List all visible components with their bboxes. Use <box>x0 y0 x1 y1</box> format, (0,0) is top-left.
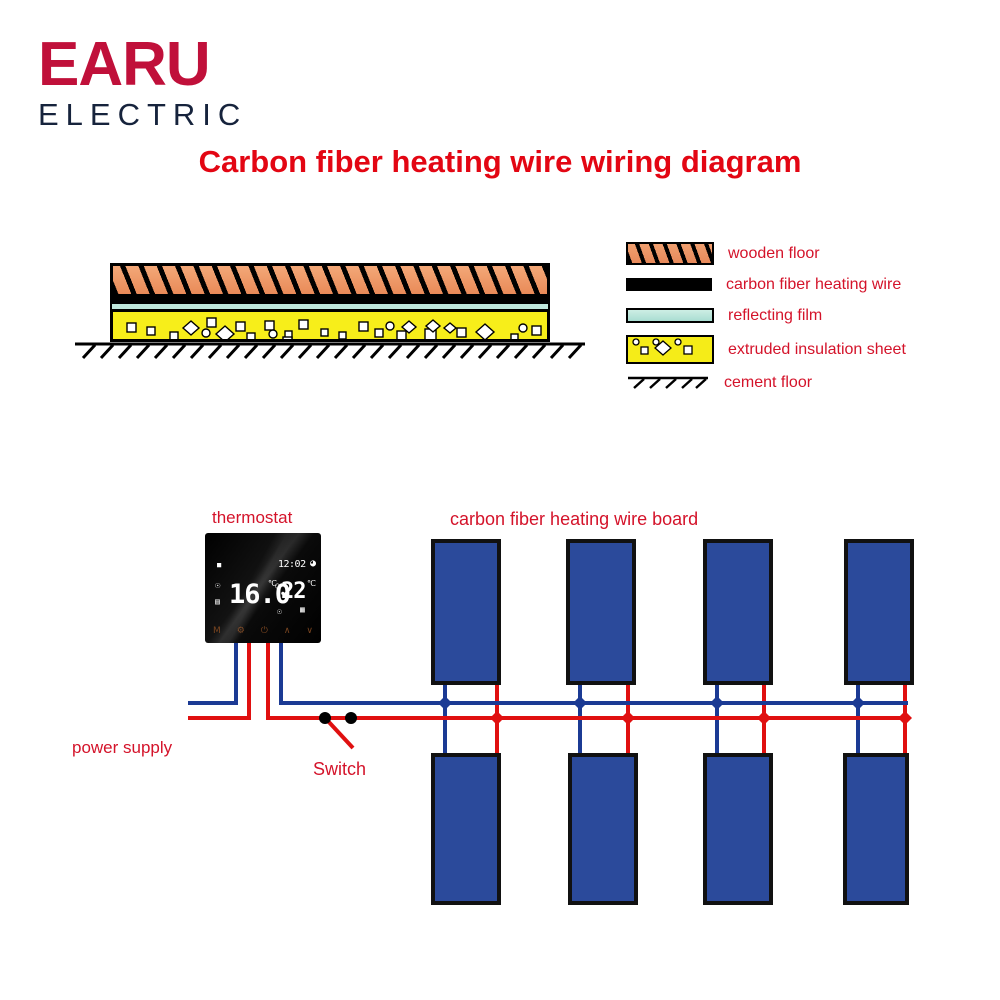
layer-extruded-insulation-sheet <box>110 309 550 342</box>
room-temperature-unit: ℃ <box>307 579 316 588</box>
board-label: carbon fiber heating wire board <box>450 509 698 530</box>
heating-board <box>570 755 636 903</box>
wooden-floor-swatch <box>626 242 714 265</box>
layer-wooden-floor <box>110 263 550 297</box>
room-temperature-marker: ○ <box>275 581 280 590</box>
cement-hatch-icon <box>626 373 710 392</box>
layer-cement-floor <box>75 342 585 364</box>
floor-cross-section <box>110 263 560 363</box>
thermostat-device[interactable]: ■ ☉ ▤ 12:02 ◕ 16.0 ℃ ○ 22 ℃ ☉ ▦ M ⚙ ⏻ ∧ … <box>205 533 321 643</box>
grid-icon: ▦ <box>300 605 305 614</box>
thermostat-label: thermostat <box>212 508 292 528</box>
legend-item-reflecting-film: reflecting film <box>626 300 956 331</box>
live-leads-bottom <box>497 718 905 755</box>
switch-label: Switch <box>313 759 366 780</box>
power-supply-label: power supply <box>72 738 172 758</box>
page-title: Carbon fiber heating wire wiring diagram <box>0 144 1000 180</box>
legend-label: carbon fiber heating wire <box>726 275 901 294</box>
neutral-leads-bottom <box>445 703 858 755</box>
cement-floor-swatch <box>626 373 710 392</box>
neutral-junction-nodes <box>438 696 865 710</box>
wifi-icon: ◕ <box>310 558 316 569</box>
switch-blade <box>327 720 353 748</box>
live-junction-nodes <box>490 711 912 725</box>
clock-icon: ☉ <box>215 581 220 591</box>
signal-bars-icon: ■ <box>217 561 221 569</box>
mode-button[interactable]: M <box>213 626 221 636</box>
legend-label: cement floor <box>724 373 812 392</box>
brand-name: EARU <box>38 34 338 96</box>
legend-label: reflecting film <box>728 306 822 325</box>
heating-board <box>845 755 907 903</box>
heating-board <box>433 755 499 903</box>
insulation-bubbles-icon <box>113 312 550 342</box>
legend-item-wooden-floor: wooden floor <box>626 238 956 269</box>
live-leads-top <box>497 683 905 718</box>
neutral-leads-top <box>445 683 858 703</box>
insulation-swatch <box>626 335 714 364</box>
up-button[interactable]: ∧ <box>284 626 291 636</box>
room-temperature-value: 22 <box>281 581 306 603</box>
calendar-icon: ▤ <box>215 597 220 606</box>
heating-board-bottom-row <box>433 755 907 903</box>
brand-logo: EARU ELECTRIC <box>38 34 338 134</box>
thermostat-time: 12:02 <box>278 559 306 570</box>
switch-contact-right <box>345 712 357 724</box>
legend: wooden floor carbon fiber heating wire r… <box>626 238 956 398</box>
legend-item-insulation-sheet: extruded insulation sheet <box>626 331 956 367</box>
thermostat-drop-wires <box>188 643 433 718</box>
heating-board <box>846 541 912 683</box>
heating-board <box>433 541 499 683</box>
legend-item-cement-floor: cement floor <box>626 367 956 398</box>
down-button[interactable]: ∨ <box>306 626 313 636</box>
heating-board <box>705 755 771 903</box>
heating-board <box>568 541 634 683</box>
cement-hatch-icon <box>75 342 585 364</box>
heating-wire-swatch <box>626 278 712 291</box>
switch-symbol <box>319 712 357 748</box>
settings-button[interactable]: ⚙ <box>237 626 245 636</box>
legend-label: extruded insulation sheet <box>728 340 906 359</box>
insulation-bubbles-icon <box>628 337 708 358</box>
power-button[interactable]: ⏻ <box>261 626 268 636</box>
diagram-page: EARU ELECTRIC Carbon fiber heating wire … <box>0 0 1000 1000</box>
lock-icon: ☉ <box>277 607 282 616</box>
legend-label: wooden floor <box>728 244 820 263</box>
heating-board-top-row <box>433 541 912 683</box>
brand-subtitle: ELECTRIC <box>38 98 338 132</box>
layer-carbon-fiber-heating-wire <box>110 297 550 304</box>
legend-item-heating-wire: carbon fiber heating wire <box>626 269 956 300</box>
heating-board <box>705 541 771 683</box>
thermostat-button-row[interactable]: M ⚙ ⏻ ∧ ∨ <box>205 621 321 641</box>
reflecting-film-swatch <box>626 308 714 323</box>
switch-contact-left <box>319 712 331 724</box>
